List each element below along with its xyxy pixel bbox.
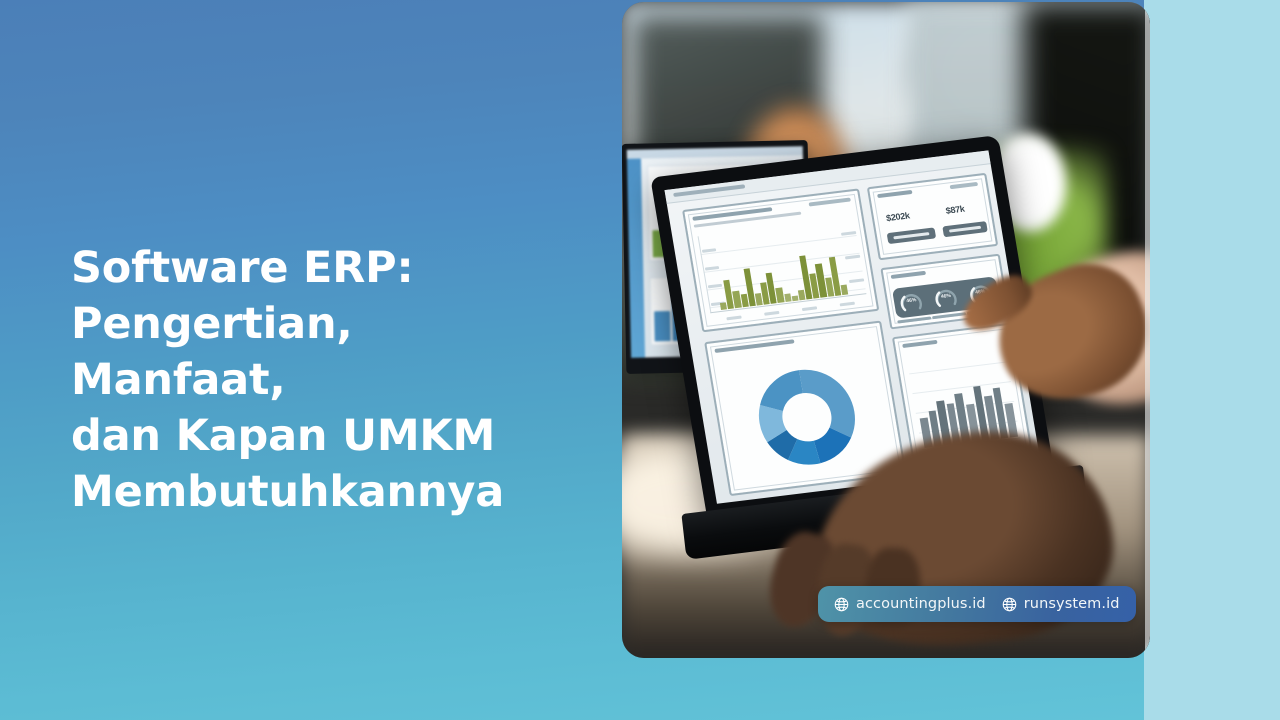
liquidity-panel: $202k $87k bbox=[867, 173, 998, 261]
badge-site-label: accountingplus.id bbox=[856, 596, 986, 612]
panel-title bbox=[902, 340, 937, 348]
page-title: Software ERP: Pengertian, Manfaat, dan K… bbox=[71, 240, 571, 520]
panel-range-label bbox=[809, 197, 851, 206]
kpi-value-primary: $202k bbox=[885, 210, 910, 223]
running-capital-button[interactable] bbox=[942, 221, 988, 237]
monitor-sidebar bbox=[627, 159, 645, 358]
gauge-label bbox=[932, 312, 966, 319]
globe-icon bbox=[834, 597, 849, 612]
hero-photo: $202k $87k 46% bbox=[622, 2, 1150, 658]
globe-icon bbox=[1002, 597, 1017, 612]
gauge-2: 46% bbox=[932, 284, 960, 311]
glass-overlay bbox=[1145, 2, 1150, 658]
right-accent-band bbox=[1143, 0, 1280, 720]
cover-canvas: Software ERP: Pengertian, Manfaat, dan K… bbox=[0, 0, 1280, 720]
panel-title bbox=[714, 339, 794, 353]
panel-range-label bbox=[950, 182, 978, 189]
panel-title bbox=[877, 190, 912, 198]
website-badge: accountingplus.id runsystem.id bbox=[818, 586, 1136, 622]
gauge-label bbox=[898, 316, 932, 323]
badge-site-label: runsystem.id bbox=[1024, 596, 1120, 612]
kpi-value-secondary: $87k bbox=[945, 204, 965, 216]
badge-site-runsystem[interactable]: runsystem.id bbox=[1002, 596, 1120, 612]
total-cash-balance-button[interactable] bbox=[887, 227, 937, 244]
panel-title bbox=[891, 271, 926, 279]
gauge-1: 46% bbox=[898, 288, 926, 315]
sales-bar-panel bbox=[682, 188, 879, 332]
badge-site-accountingplus[interactable]: accountingplus.id bbox=[834, 596, 986, 612]
